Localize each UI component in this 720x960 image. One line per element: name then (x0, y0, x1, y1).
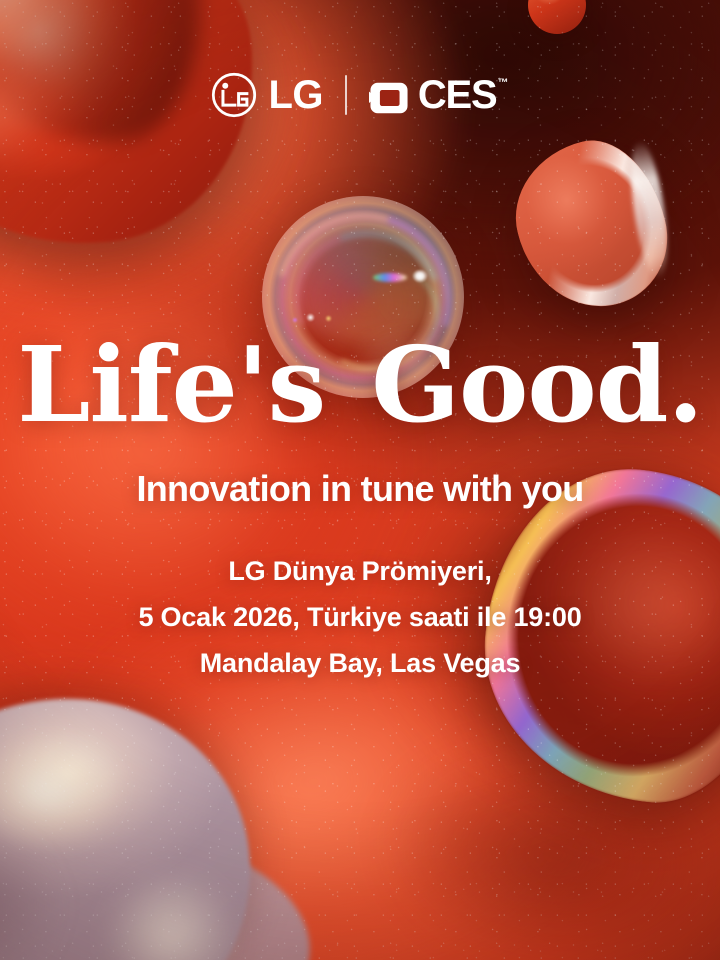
ces-wordmark: CES (418, 75, 497, 115)
ces-badge-logo-icon (369, 75, 409, 116)
logo-lockup-row: LG CES ™ (0, 72, 720, 118)
event-detail-line-2: 5 Ocak 2026, Türkiye saati ile 19:00 (0, 594, 720, 640)
headline-part-one: Life's (17, 323, 325, 446)
page-title: Life'sGood. (0, 333, 720, 437)
ces-wordmark-wrap: CES ™ (418, 75, 509, 115)
lg-face-logo-icon (211, 72, 257, 118)
poster-content: LG CES ™ Life'sGood. Innovation in tun (0, 0, 720, 960)
vertical-divider-icon (345, 75, 347, 115)
tagline: Innovation in tune with you (0, 468, 720, 510)
headline-part-two: Good. (371, 323, 702, 446)
lg-wordmark: LG (268, 75, 322, 115)
event-detail-line-3: Mandalay Bay, Las Vegas (0, 640, 720, 686)
event-details: LG Dünya Prömiyeri, 5 Ocak 2026, Türkiye… (0, 548, 720, 686)
lg-logo-lockup: LG (211, 72, 322, 118)
ces-logo-lockup: CES ™ (369, 75, 509, 116)
event-detail-line-1: LG Dünya Prömiyeri, (0, 548, 720, 594)
lg-ces-2026-poster: LG CES ™ Life'sGood. Innovation in tun (0, 0, 720, 960)
ces-trademark-symbol: ™ (498, 77, 509, 89)
